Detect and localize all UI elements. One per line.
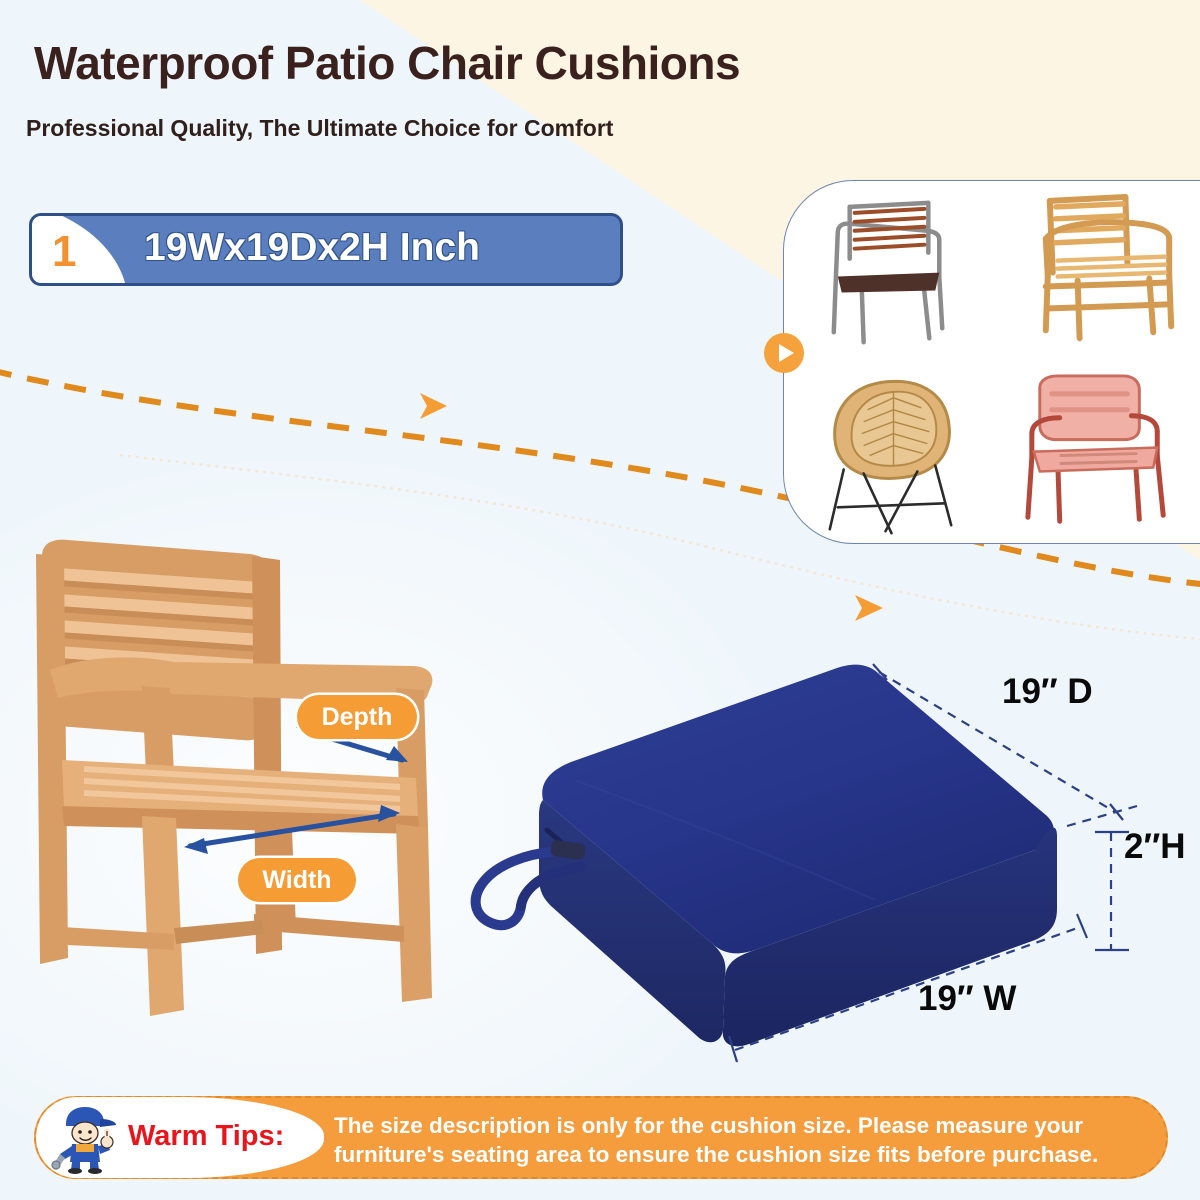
page-title: Waterproof Patio Chair Cushions: [34, 36, 740, 90]
badge-size-text: 19Wx19Dx2H Inch: [144, 226, 480, 270]
worker-mascot-icon: [50, 1104, 122, 1174]
badge-step-number: 1: [52, 228, 76, 276]
warm-tips-label: Warm Tips:: [128, 1120, 284, 1153]
warm-tips-message: The size description is only for the cus…: [334, 1111, 1154, 1169]
infographic-page: Waterproof Patio Chair Cushions Professi…: [0, 0, 1200, 1200]
cushion-height-dimension: 2″H: [1124, 827, 1186, 867]
page-subtitle: Professional Quality, The Ultimate Choic…: [26, 115, 613, 142]
gallery-item-pink-metal-stacking-armchair[interactable]: [998, 362, 1200, 543]
gallery-play-button[interactable]: [764, 333, 804, 373]
cushion-width-dimension: 19″ W: [918, 979, 1016, 1019]
play-triangle-icon: [779, 344, 794, 362]
wooden-chair-illustration: [24, 528, 484, 1040]
chair-gallery-card: [783, 180, 1200, 544]
chair-width-label: Width: [238, 858, 356, 902]
gallery-item-metal-frame-slat-back-armchair[interactable]: [784, 181, 998, 362]
warm-tips-bar: Warm Tips: The size description is only …: [34, 1096, 1168, 1179]
chair-gallery-grid: [784, 181, 1200, 543]
gallery-item-wooden-slat-patio-armchair[interactable]: [998, 181, 1200, 362]
badge-corner-cut: [29, 213, 128, 286]
gallery-item-rattan-wicker-lounge-chair[interactable]: [784, 362, 998, 543]
size-badge: 1 19Wx19Dx2H Inch: [29, 213, 623, 286]
cushion-depth-dimension: 19″ D: [1002, 672, 1093, 712]
chair-depth-label: Depth: [297, 695, 417, 739]
